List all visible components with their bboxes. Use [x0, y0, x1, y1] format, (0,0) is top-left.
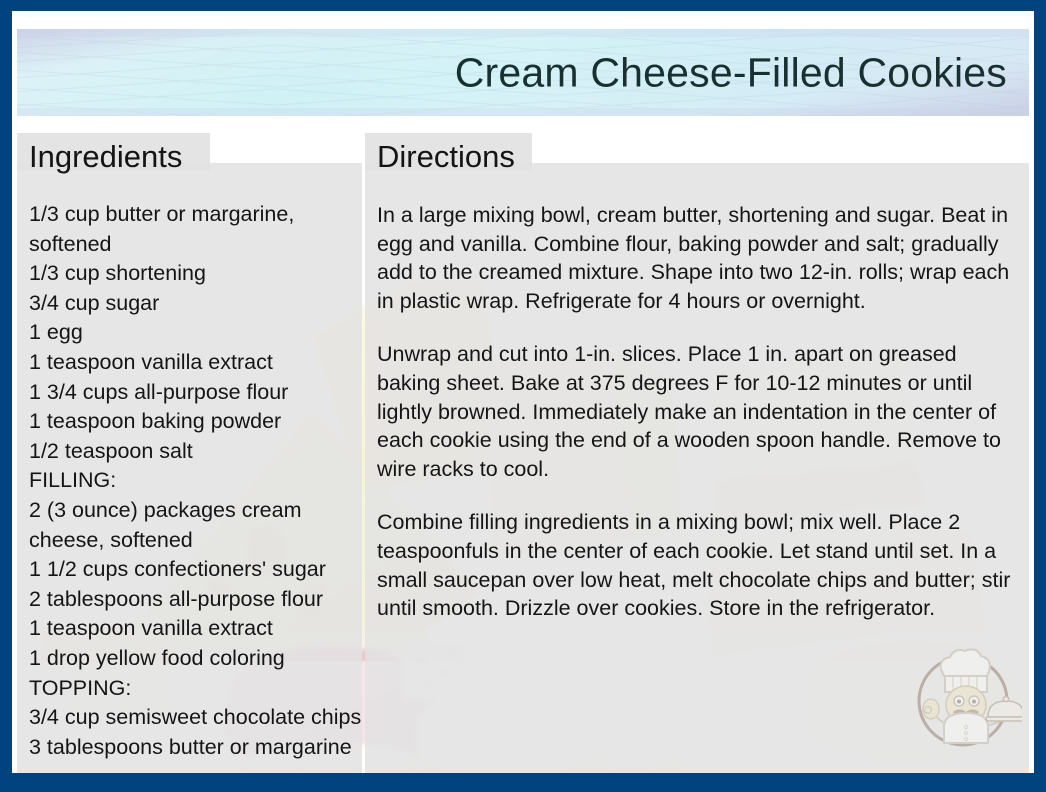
- ingredient-item: 2 (3 ounce) packages cream cheese, softe…: [29, 496, 369, 555]
- ingredient-item: 1 teaspoon vanilla extract: [29, 614, 369, 644]
- ingredient-item: 1 1/2 cups confectioners' sugar: [29, 555, 369, 585]
- recipe-card: Cream Cheese-Filled Cookies Ingredients …: [0, 0, 1046, 792]
- direction-paragraph: Combine filling ingredients in a mixing …: [377, 508, 1022, 622]
- ingredient-item: 3 tablespoons butter or margarine: [29, 733, 369, 763]
- ingredient-item: FILLING:: [29, 466, 369, 496]
- directions-text: In a large mixing bowl, cream butter, sh…: [377, 201, 1022, 623]
- ingredient-item: 1 3/4 cups all-purpose flour: [29, 378, 369, 408]
- ingredient-item: 1 teaspoon baking powder: [29, 407, 369, 437]
- ingredient-item: 3/4 cup semisweet chocolate chips: [29, 703, 369, 733]
- ingredient-item: 1/3 cup butter or margarine, softened: [29, 200, 369, 259]
- ingredient-item: 1 egg: [29, 318, 369, 348]
- ingredients-items: 1/3 cup butter or margarine, softened1/3…: [29, 200, 369, 762]
- card-page: Cream Cheese-Filled Cookies Ingredients …: [12, 11, 1034, 773]
- ingredients-list: 1/3 cup butter or margarine, softened1/3…: [29, 200, 369, 762]
- direction-paragraph: In a large mixing bowl, cream butter, sh…: [377, 201, 1022, 315]
- ingredient-item: 2 tablespoons all-purpose flour: [29, 585, 369, 615]
- ingredients-heading: Ingredients: [29, 141, 182, 172]
- ingredient-item: 1 drop yellow food coloring: [29, 644, 369, 674]
- ingredient-item: 1/2 teaspoon salt: [29, 437, 369, 467]
- directions-heading: Directions: [377, 141, 515, 172]
- ingredient-item: 3/4 cup sugar: [29, 289, 369, 319]
- direction-paragraph: Unwrap and cut into 1-in. slices. Place …: [377, 340, 1022, 483]
- ingredient-item: TOPPING:: [29, 674, 369, 704]
- title-banner: Cream Cheese-Filled Cookies: [17, 29, 1029, 116]
- recipe-title: Cream Cheese-Filled Cookies: [455, 49, 1007, 96]
- ingredient-item: 1/3 cup shortening: [29, 259, 369, 289]
- ingredient-item: 1 teaspoon vanilla extract: [29, 348, 369, 378]
